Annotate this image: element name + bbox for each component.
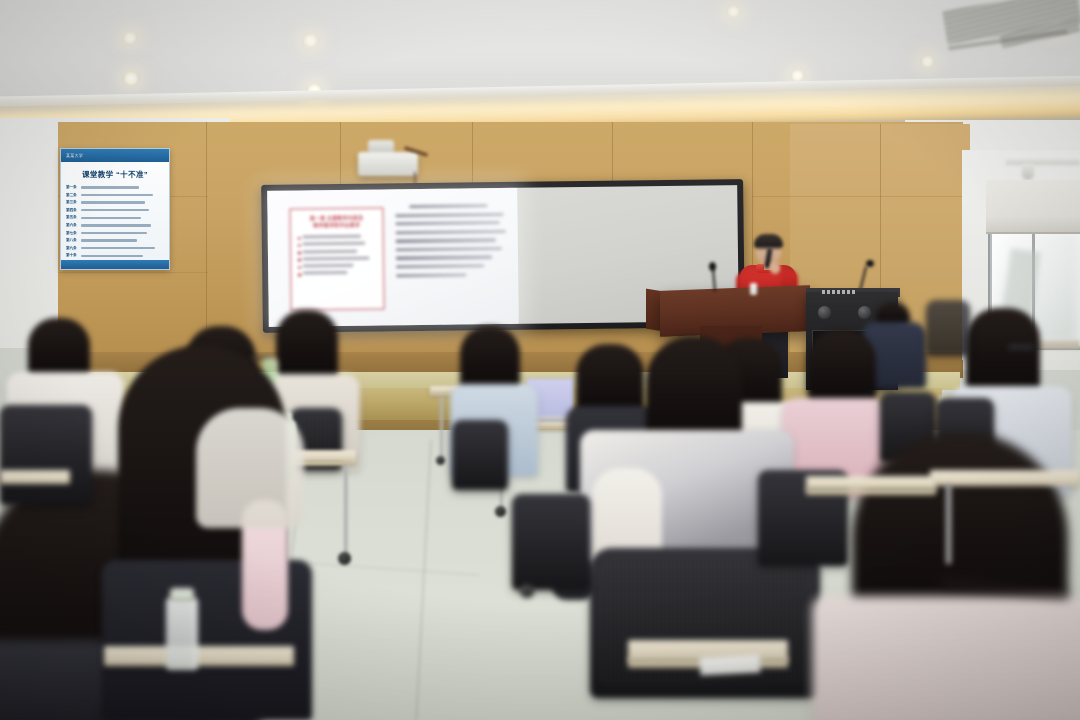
downlight-icon [302, 34, 319, 47]
downlight-icon [790, 70, 805, 81]
chair[interactable] [926, 300, 970, 356]
poster-rule-row: 第二条 [66, 193, 164, 198]
slide-text-line [396, 264, 484, 268]
slide-highlight-box: 第一章 主要教学内容及教学要求和作业要求 [289, 207, 384, 310]
bullet-dot-icon [298, 252, 301, 255]
bottle-cap-icon [170, 588, 194, 602]
poster-header-bar: 某某大学 [61, 149, 169, 162]
av-knob-icon[interactable] [818, 306, 831, 319]
bullet-dot-icon [298, 237, 301, 240]
poster-rule-row: 第九条 [66, 246, 164, 251]
desk-leg [440, 396, 443, 458]
slide-bullet [298, 264, 377, 269]
slide-bullet [298, 235, 377, 240]
poster-rule-row: 第六条 [66, 223, 164, 228]
chair[interactable] [0, 405, 92, 505]
panel-seam [752, 196, 967, 197]
downlight-icon [726, 6, 741, 17]
bullet-text [303, 242, 365, 246]
slide-title-line: 教学要求和作业要求 [296, 223, 378, 231]
desk-leg [344, 464, 348, 556]
downlight-icon [122, 32, 138, 44]
presenter-hair [754, 234, 783, 248]
clear-water-bottle[interactable] [166, 598, 198, 670]
slide-bullet [298, 249, 377, 254]
poster-rule-row: 第七条 [66, 231, 164, 236]
bullet-text [303, 235, 361, 239]
av-rack-label [822, 290, 856, 294]
microphone-head-icon [866, 260, 874, 267]
poster-rule-number: 第一条 [66, 185, 78, 190]
poster-rule-number: 第三条 [66, 200, 78, 205]
poster-rule-number: 第四条 [66, 208, 78, 213]
roller-blind [986, 180, 1080, 234]
student-behind-shoulder [196, 408, 304, 528]
bullet-dot-icon [298, 273, 301, 276]
poster-rule-row: 第八条 [66, 238, 164, 243]
poster-rule-number: 第八条 [66, 238, 78, 243]
poster-rule-text [81, 201, 145, 203]
downlight-icon [920, 56, 935, 67]
poster-footer-bar [61, 260, 169, 269]
poster-rule-text [81, 224, 151, 226]
desk [0, 470, 70, 484]
chair[interactable] [512, 494, 590, 590]
chair-caster [520, 584, 534, 598]
desk-caster [495, 506, 506, 517]
poster-title: 课堂教学 “十不准” [61, 162, 169, 185]
panel-seam [472, 122, 473, 184]
poster-rule-number: 第五条 [66, 215, 78, 220]
slide-text-line [409, 204, 487, 208]
student-hair [276, 310, 338, 384]
poster-rule-number: 第九条 [66, 246, 78, 251]
slide-bullet [298, 271, 377, 276]
bullet-dot-icon [298, 244, 301, 247]
presenter-hand [770, 262, 780, 274]
desk-caster [338, 552, 351, 565]
poster-rule-number: 第七条 [66, 231, 78, 236]
poster-rule-row: 第三条 [66, 200, 164, 205]
bullet-dot-icon [298, 266, 301, 269]
bullet-text [303, 271, 347, 275]
slide-text-line [396, 256, 492, 260]
poster-logo: 某某大学 [66, 153, 83, 159]
slide-bullet [298, 256, 377, 261]
poster-rule-text [81, 247, 155, 249]
light-shade [1022, 164, 1034, 180]
classroom-rules-poster: 某某大学 课堂教学 “十不准” 第一条第二条第三条第四条第五条第六条第七条第八条… [60, 148, 170, 270]
poster-rule-number: 第六条 [66, 223, 78, 228]
desk [104, 646, 294, 666]
classroom-photo: 某某大学 课堂教学 “十不准” 第一条第二条第三条第四条第五条第六条第七条第八条… [0, 0, 1080, 720]
desk-leg [946, 484, 951, 564]
bullet-dot-icon [298, 259, 301, 262]
poster-rule-text [81, 209, 149, 211]
slide-bullet [298, 242, 377, 247]
slide-text-line [396, 230, 506, 235]
downlight-icon [122, 72, 140, 85]
panel-seam [58, 272, 208, 273]
glasses-icon [1008, 344, 1034, 350]
poster-rule-row: 第四条 [66, 208, 164, 213]
slide-box-title: 第一章 主要教学内容及教学要求和作业要求 [290, 208, 382, 234]
poster-rule-text [81, 255, 143, 257]
slide-text-line [396, 221, 500, 225]
desk-caster [436, 456, 445, 465]
poster-rule-text [81, 194, 153, 196]
slide-bullet-list [291, 233, 384, 276]
av-knob-icon[interactable] [858, 306, 871, 319]
water-bottle-on-lectern [750, 283, 757, 295]
poster-rule-text [81, 217, 141, 219]
student-front-right-torso [812, 596, 1080, 720]
bullet-text [303, 264, 353, 268]
bullet-text [303, 249, 357, 253]
chair[interactable] [452, 420, 508, 490]
poster-rule-row: 第十条 [66, 253, 164, 258]
paper-sheet [700, 654, 761, 675]
poster-rule-number: 第十条 [66, 253, 78, 258]
wall-light-fixture [1006, 156, 1080, 165]
panel-seam [340, 122, 341, 184]
poster-rule-row: 第一条 [66, 185, 164, 190]
poster-rule-text [81, 186, 139, 188]
desk-edge [806, 488, 936, 495]
bullet-text [303, 256, 369, 260]
desk [930, 470, 1080, 486]
poster-rule-text [81, 239, 137, 241]
slide-text-line [396, 273, 466, 277]
poster-rule-list: 第一条第二条第三条第四条第五条第六条第七条第八条第九条第十条 [61, 185, 169, 258]
projection-area: 第一章 主要教学内容及教学要求和作业要求 [267, 188, 519, 327]
slide-text-line [395, 213, 503, 218]
poster-rule-number: 第二条 [66, 193, 78, 198]
slide-text-line [396, 247, 502, 251]
slide-body-text [395, 204, 508, 283]
microphone-head-icon [709, 262, 716, 271]
panel-seam [612, 122, 613, 184]
poster-rule-row: 第五条 [66, 215, 164, 220]
slide-text-line [396, 238, 496, 242]
poster-rule-text [81, 232, 147, 234]
projector-icon [358, 152, 418, 176]
